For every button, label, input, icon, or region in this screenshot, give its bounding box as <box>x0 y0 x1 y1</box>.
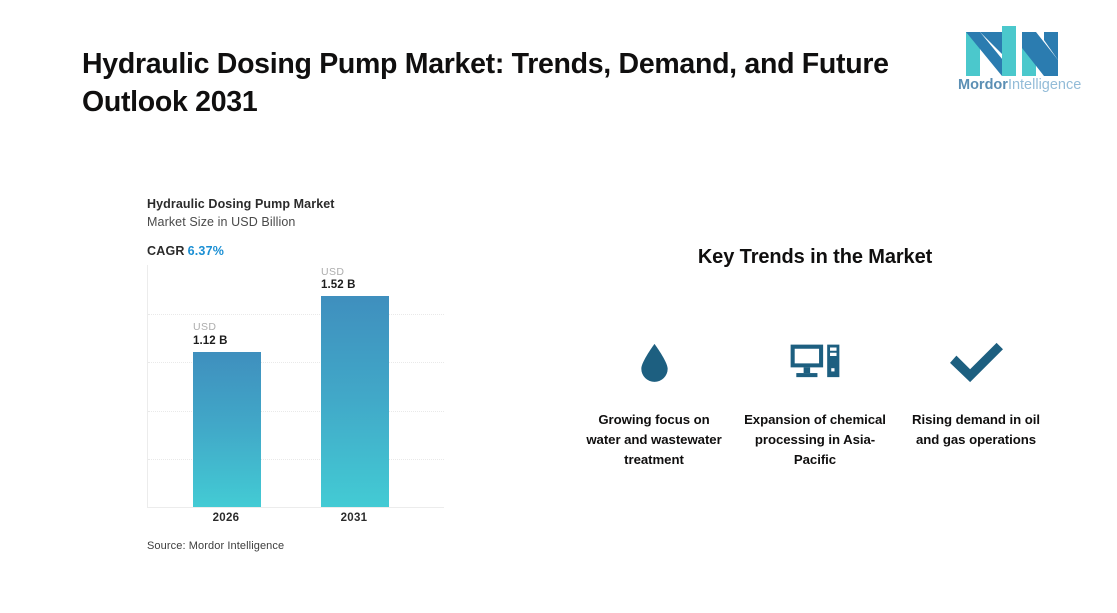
trend-item-chemical: Expansion of chemical processing in Asia… <box>741 338 889 470</box>
x-axis-tick-2031: 2031 <box>320 512 388 524</box>
chart-cagr: CAGR6.37% <box>147 244 447 258</box>
trend-item-oilgas: Rising demand in oil and gas operations <box>902 338 1050 470</box>
chart-title: Hydraulic Dosing Pump Market <box>147 196 447 213</box>
checkmark-icon <box>947 338 1006 386</box>
bar-2026[interactable] <box>193 352 261 508</box>
bar-unit-2026: USD <box>193 321 261 334</box>
chart-source: Source: Mordor Intelligence <box>147 540 284 552</box>
trend-item-water: Growing focus on water and wastewater tr… <box>580 338 728 470</box>
bar-label-2026: USD 1.12 B <box>193 321 261 348</box>
trend-label-water: Growing focus on water and wastewater tr… <box>580 410 728 470</box>
bar-value-2026: 1.12 B <box>193 334 261 348</box>
key-trends-heading: Key Trends in the Market <box>580 246 1050 269</box>
mordor-intelligence-logo-icon <box>964 24 1060 76</box>
key-trends-row: Growing focus on water and wastewater tr… <box>580 338 1050 470</box>
logo-wordmark: MordorIntelligence <box>958 78 1066 93</box>
bar-2031[interactable] <box>321 296 389 507</box>
market-size-bar-chart: Hydraulic Dosing Pump Market Market Size… <box>147 196 447 556</box>
key-trends-section: Key Trends in the Market Growing focus o… <box>580 246 1050 269</box>
bar-label-2031: USD 1.52 B <box>321 266 389 293</box>
water-droplet-icon <box>639 338 670 386</box>
x-axis-tick-2026: 2026 <box>192 512 260 524</box>
bar-group-2031: USD 1.52 B <box>321 265 389 507</box>
desktop-computer-icon <box>789 338 841 386</box>
chart-subtitle: Market Size in USD Billion <box>147 214 447 231</box>
trend-label-chemical: Expansion of chemical processing in Asia… <box>741 410 889 470</box>
logo-wordmark-bold: Mordor <box>958 77 1008 93</box>
bar-value-2031: 1.52 B <box>321 278 389 292</box>
page-title: Hydraulic Dosing Pump Market: Trends, De… <box>82 46 942 122</box>
cagr-value: 6.37% <box>188 244 224 258</box>
logo-wordmark-light: Intelligence <box>1008 77 1081 93</box>
trend-label-oilgas: Rising demand in oil and gas operations <box>902 410 1050 450</box>
bar-unit-2031: USD <box>321 266 389 279</box>
brand-logo: MordorIntelligence <box>958 24 1066 104</box>
cagr-label: CAGR <box>147 244 185 258</box>
chart-plot-area: USD 1.12 B USD 1.52 B <box>147 265 444 508</box>
bar-group-2026: USD 1.12 B <box>193 265 261 507</box>
